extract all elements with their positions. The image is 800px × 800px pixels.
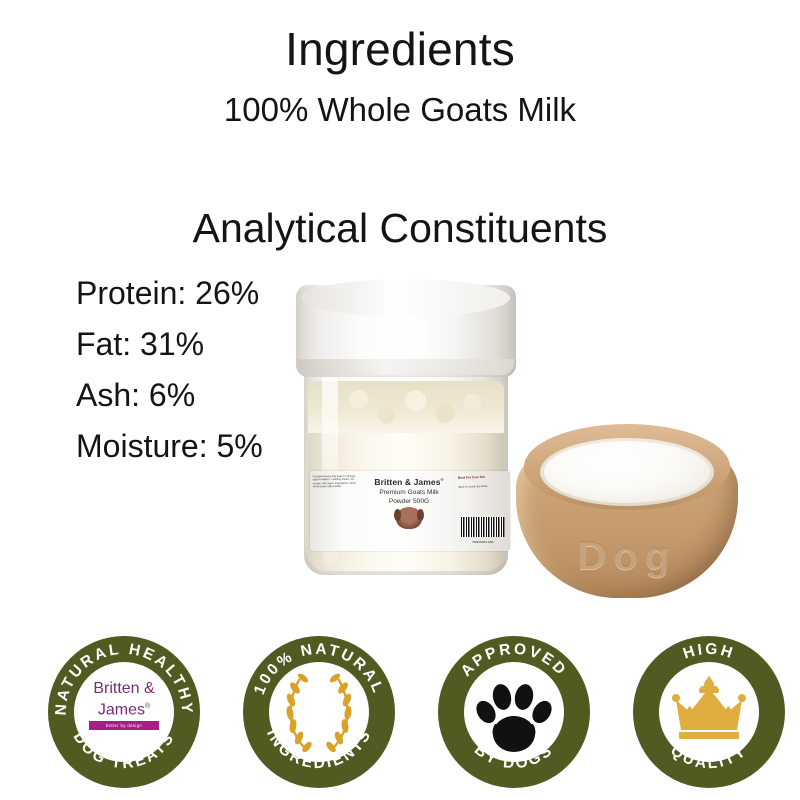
label-brand-name: Britten & James® <box>363 474 455 488</box>
jar-lid <box>296 285 516 377</box>
label-registered-icon: ® <box>441 477 444 482</box>
analytical-constituents-title: Analytical Constituents <box>0 203 800 253</box>
brand-tagline: better by design <box>89 721 159 730</box>
badge-high-quality: HIGH QUALITY <box>633 636 785 788</box>
jar-label: Complementary dog treat for all dogs age… <box>310 471 510 551</box>
dog-bowl-image: Dog <box>516 412 738 602</box>
brand-logo-line-2: James® <box>78 698 170 719</box>
badge-100-natural-ingredients: 100% NATURAL INGREDIENTS <box>243 636 395 788</box>
bowl-emboss-text: Dog <box>532 530 722 582</box>
label-right-panel: Best For Your Pet Store in a cool, dry p… <box>458 475 508 547</box>
label-right-text: Store in a cool, dry place. <box>458 484 508 489</box>
ingredients-title: Ingredients <box>0 22 800 76</box>
product-infographic: Ingredients 100% Whole Goats Milk Analyt… <box>0 0 800 800</box>
crown-icon <box>659 662 759 762</box>
jar-lid-rim <box>298 359 514 375</box>
trust-badges-row: NATURAL HEALTHY DOG TREATS Britten & Jam… <box>0 636 800 792</box>
label-right-title: Best For Your Pet <box>458 474 508 480</box>
label-brand-text: Britten & James <box>374 477 440 487</box>
brand-logo-line-1: Britten & <box>78 680 170 698</box>
badge-approved-by-dogs: APPROVED BY DOGS <box>438 636 590 788</box>
label-line-3: Powder 500G <box>363 497 455 506</box>
barcode-icon <box>461 517 505 537</box>
badge-top-text-4: HIGH <box>681 641 737 663</box>
registered-icon: ® <box>145 703 150 710</box>
bowl-milk <box>544 441 710 503</box>
paw-print-icon <box>464 662 564 762</box>
product-jar-image: Complementary dog treat for all dogs age… <box>296 285 516 580</box>
wheat-wreath-icon <box>269 662 369 762</box>
label-left-panel-text: Complementary dog treat for all dogs age… <box>313 475 362 547</box>
label-center-panel: Britten & James® Premium Goats Milk Powd… <box>363 474 455 529</box>
label-line-2: Premium Goats Milk <box>363 488 455 497</box>
brand-logo: Britten & James® better by design <box>78 680 170 730</box>
jar-lid-top <box>302 279 510 317</box>
ingredients-value: 100% Whole Goats Milk <box>0 90 800 130</box>
badge-bottom-text-1: DOG TREATS <box>70 729 179 772</box>
dog-photo-icon <box>396 507 422 529</box>
barcode-number: 5060413061 4306 <box>461 541 505 544</box>
badge-natural-healthy-dog-treats: NATURAL HEALTHY DOG TREATS Britten & Jam… <box>48 636 200 788</box>
